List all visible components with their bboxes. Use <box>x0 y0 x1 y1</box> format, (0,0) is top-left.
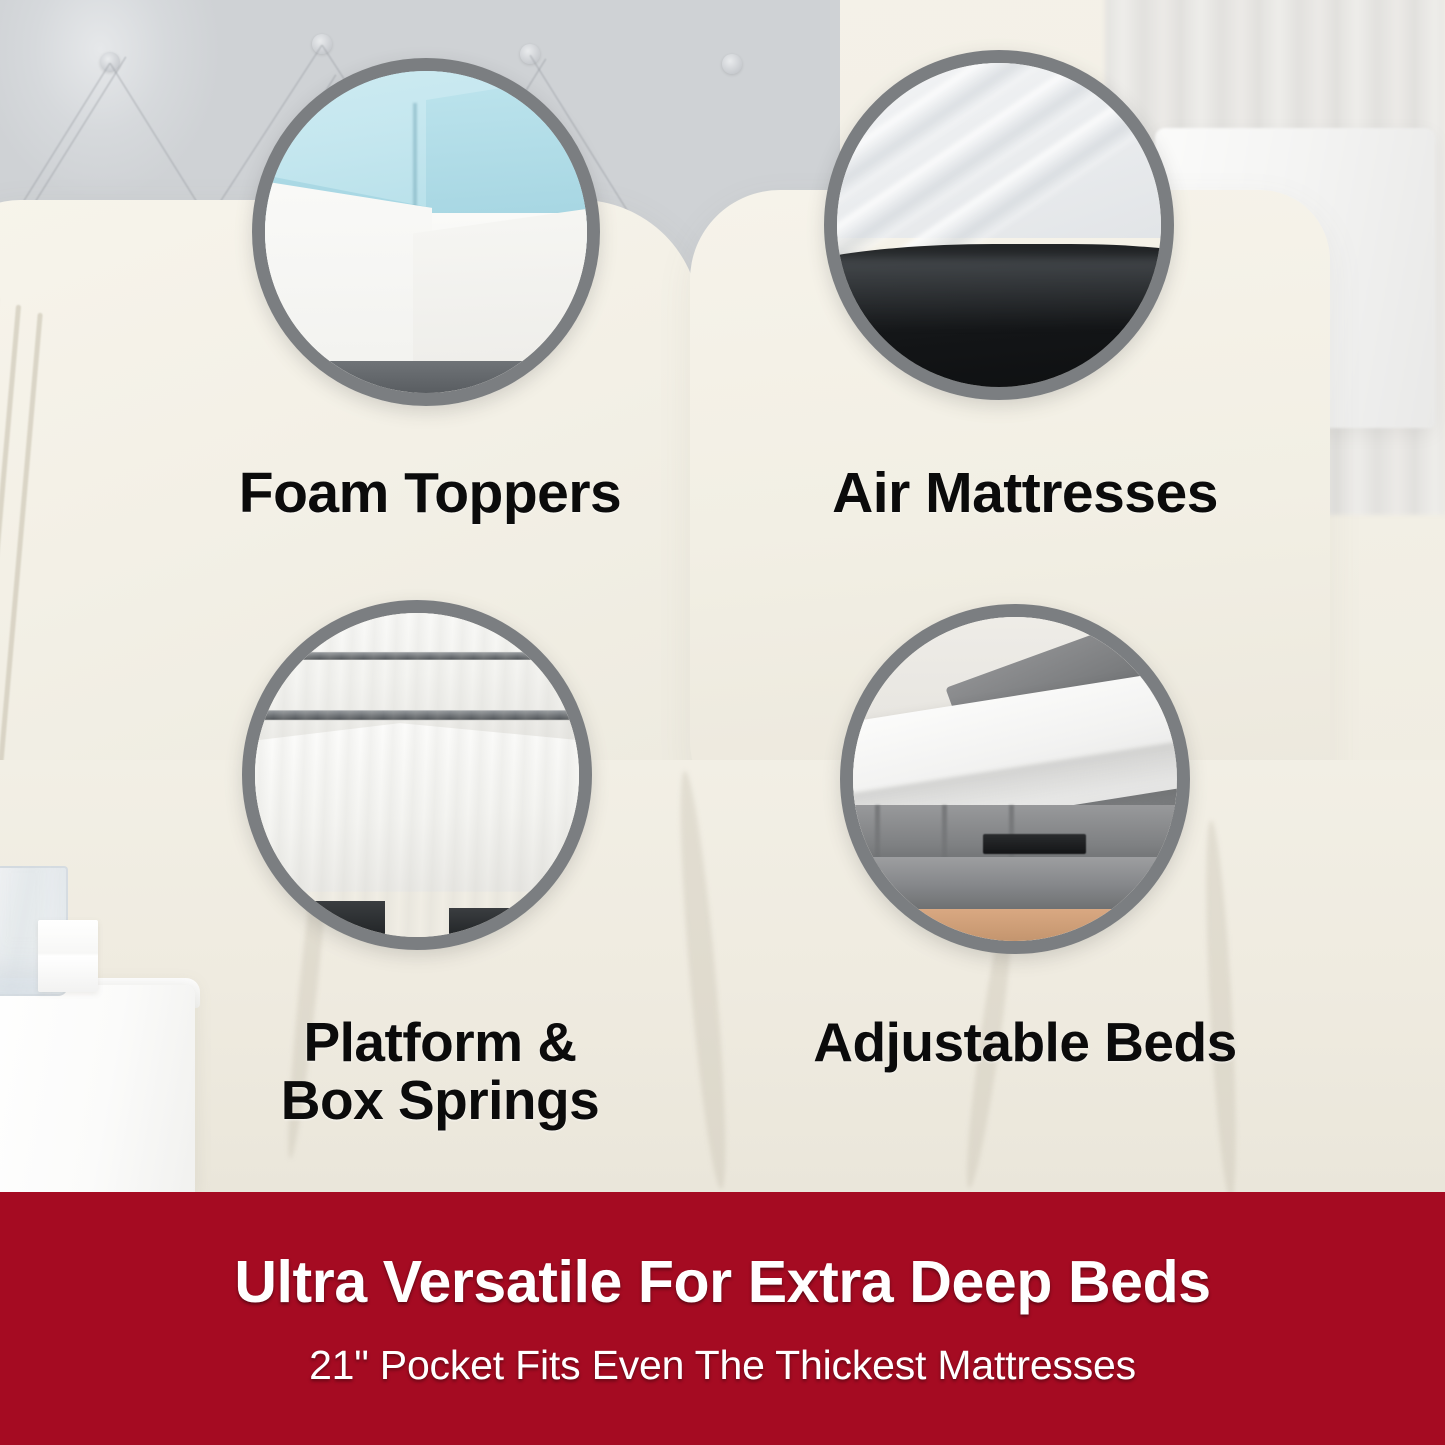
bottom-banner: Ultra Versatile For Extra Deep Beds 21" … <box>0 1192 1445 1445</box>
feature-label-air-mattresses: Air Mattresses <box>715 463 1335 523</box>
infographic-canvas: Foam Toppers Air Mattresses Platform & B… <box>0 0 1445 1445</box>
feature-photo-platform-box-springs <box>242 600 592 950</box>
stacked-boxes <box>38 920 98 992</box>
feature-photo-air-mattresses <box>824 50 1174 400</box>
feature-photo-foam-toppers <box>252 58 600 406</box>
feature-photo-adjustable-beds <box>840 604 1190 954</box>
feature-label-foam-toppers: Foam Toppers <box>130 463 730 523</box>
duvet-surface <box>0 760 1445 1200</box>
banner-title: Ultra Versatile For Extra Deep Beds <box>234 1248 1210 1316</box>
banner-subtitle: 21" Pocket Fits Even The Thickest Mattre… <box>309 1342 1136 1389</box>
feature-label-platform-box-springs: Platform & Box Springs <box>150 1013 730 1130</box>
feature-label-adjustable-beds: Adjustable Beds <box>700 1013 1350 1071</box>
